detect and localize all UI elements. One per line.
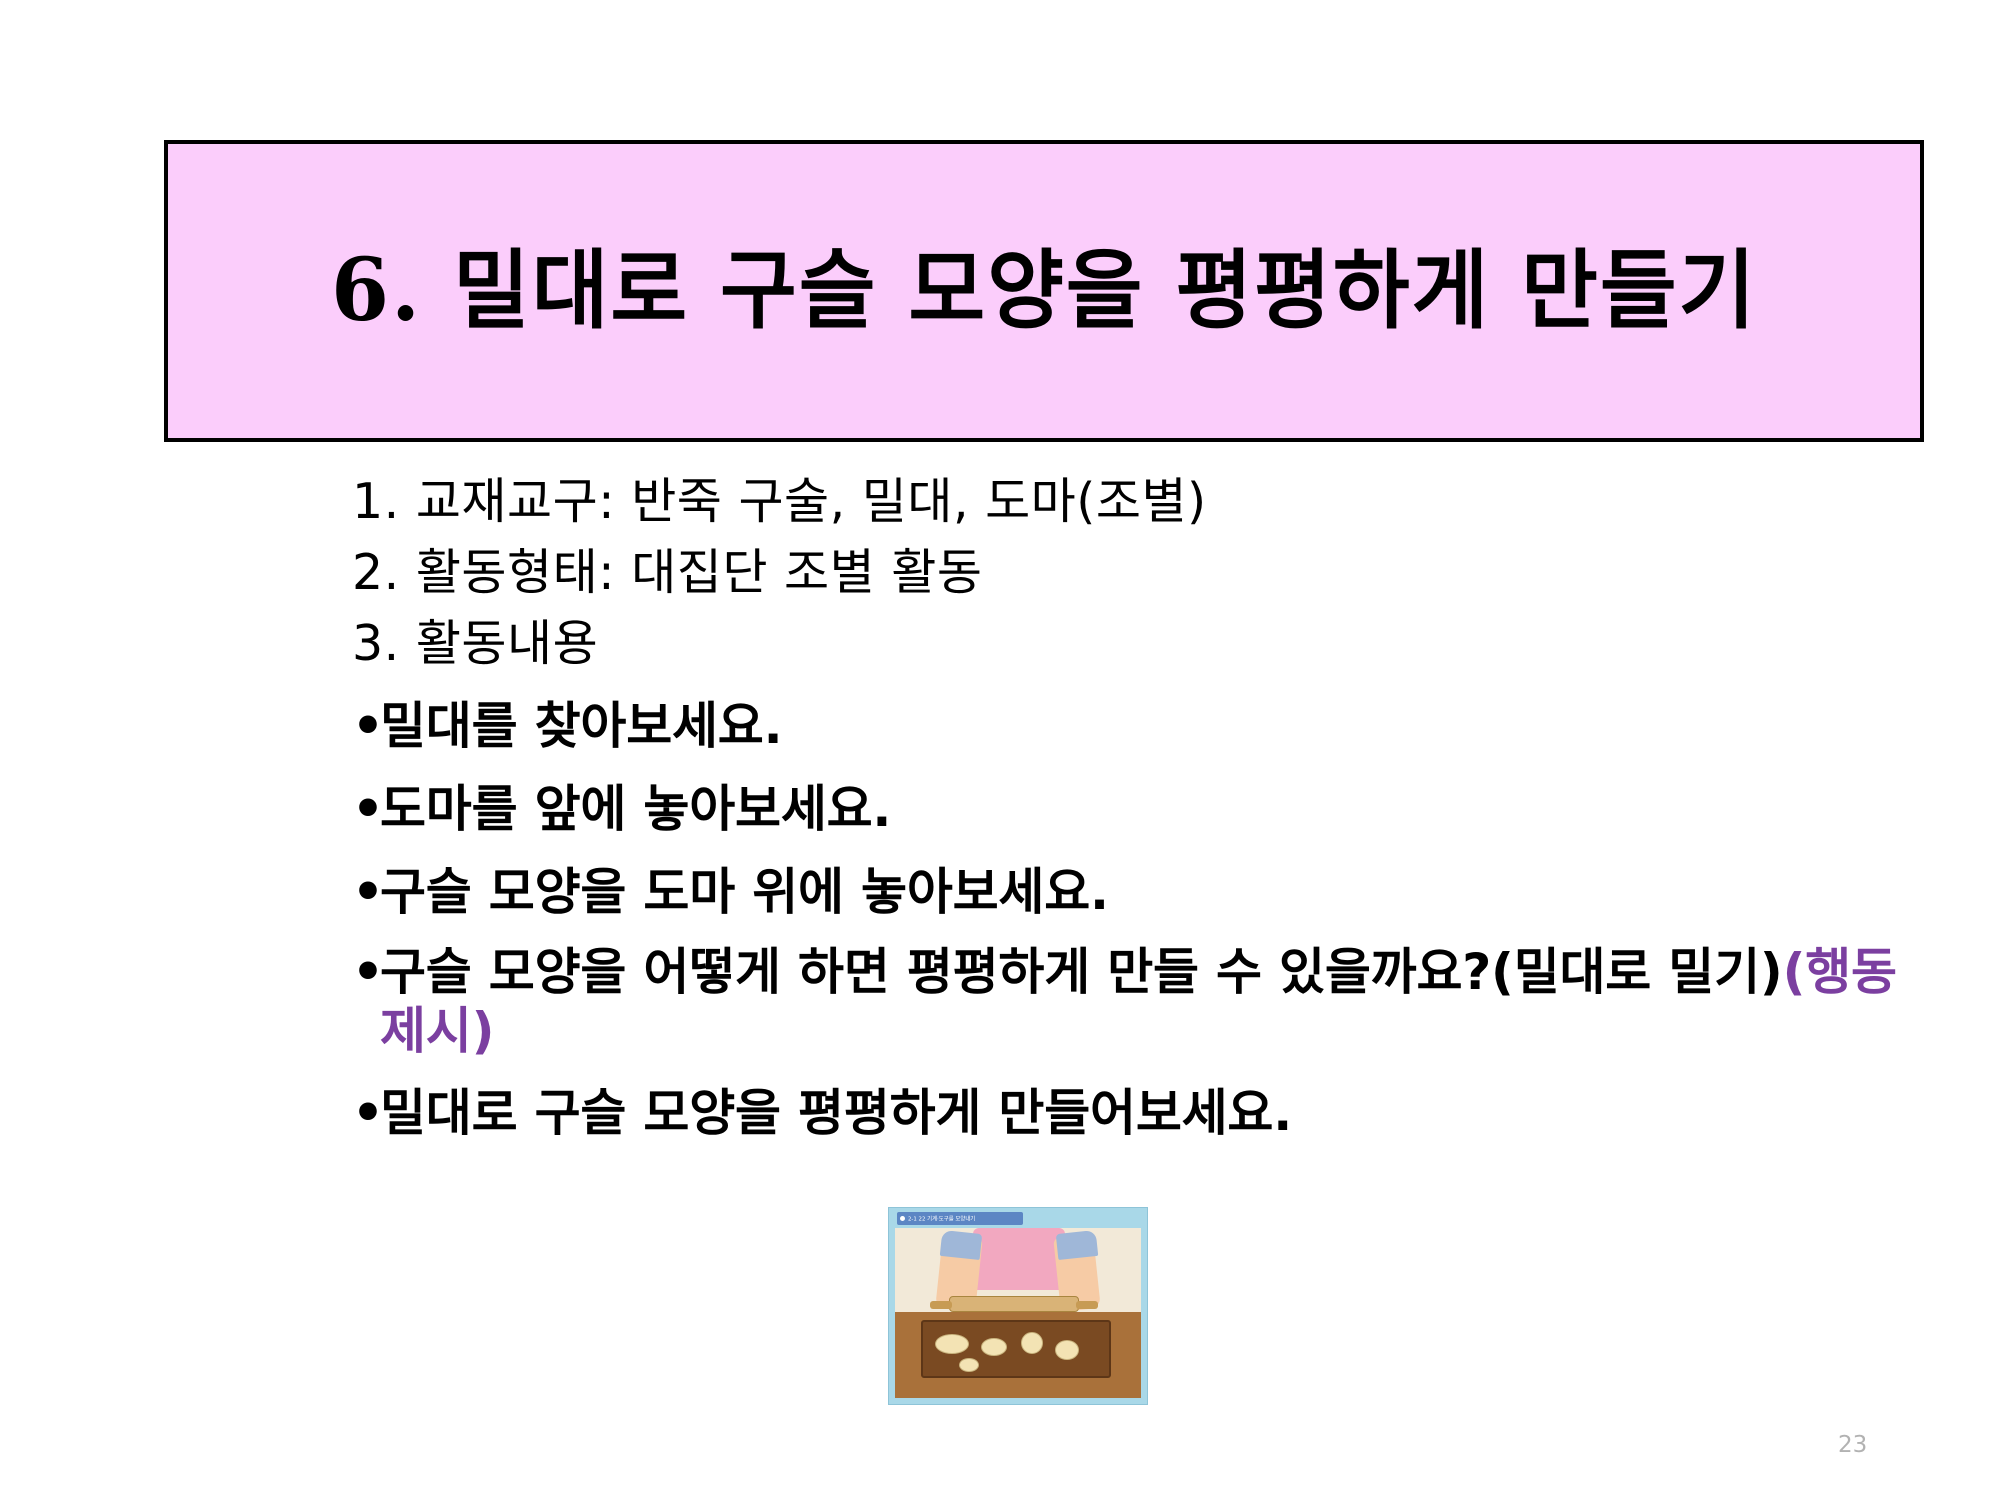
bullet-item-5: •밀대로 구슬 모양을 평평하게 만들어보세요. <box>352 1081 1912 1146</box>
rolling-pin <box>949 1296 1079 1312</box>
dough-ball <box>981 1338 1007 1356</box>
slide-title-box: 6. 밀대로 구슬 모양을 평평하게 만들기 <box>164 140 1924 442</box>
bullet-item-4: •구슬 모양을 어떻게 하면 평평하게 만들 수 있을까요?(밀대로 밀기)(행… <box>352 943 1925 1061</box>
photo-caption-text: 2-1 22 기계·도구를 모양내기 <box>908 1214 975 1222</box>
left-sleeve <box>940 1230 982 1260</box>
bullet-item-2-text: 도마를 앞에 놓아보세요. <box>380 780 891 838</box>
bullet-item-4-text: 구슬 모양을 어떻게 하면 평평하게 만들 수 있을까요?(밀대로 밀기) <box>380 943 1783 1001</box>
bullet-dot-icon: • <box>352 860 384 925</box>
bullet-dot-icon: • <box>352 777 384 842</box>
bullet-dot-icon: • <box>352 943 384 1002</box>
dough-ball <box>1021 1332 1043 1354</box>
dough-ball <box>1055 1340 1079 1360</box>
slide-body: 1. 교재교구: 반죽 구술, 밀대, 도마(조별) 2. 활동형태: 대집단 … <box>352 470 1912 1155</box>
right-sleeve <box>1056 1230 1098 1260</box>
caption-bullet-icon <box>900 1216 905 1221</box>
bullet-item-1-text: 밀대를 찾아보세요. <box>380 697 782 755</box>
bullet-dot-icon: • <box>352 1081 384 1146</box>
bullet-item-3: •구슬 모양을 도마 위에 놓아보세요. <box>352 860 1912 925</box>
bullet-item-5-text: 밀대로 구슬 모양을 평평하게 만들어보세요. <box>380 1084 1292 1142</box>
page-number: 23 <box>1838 1432 1867 1458</box>
numbered-item-3: 3. 활동내용 <box>352 612 1912 675</box>
slide-canvas: 6. 밀대로 구슬 모양을 평평하게 만들기 1. 교재교구: 반죽 구술, 밀… <box>0 0 2000 1500</box>
numbered-item-2: 2. 활동형태: 대집단 조별 활동 <box>352 541 1912 604</box>
bullet-item-3-text: 구슬 모양을 도마 위에 놓아보세요. <box>380 863 1109 921</box>
rolling-pin-dough-photo[interactable]: 2-1 22 기계·도구를 모양내기 <box>888 1207 1148 1405</box>
photo-caption-bar: 2-1 22 기계·도구를 모양내기 <box>897 1212 1023 1225</box>
person-torso <box>973 1228 1065 1290</box>
dough-ball <box>935 1334 969 1354</box>
dough-ball <box>959 1358 979 1372</box>
bullet-dot-icon: • <box>352 694 384 759</box>
page-title: 6. 밀대로 구슬 모양을 평평하게 만들기 <box>331 246 1757 336</box>
bullet-item-2: •도마를 앞에 놓아보세요. <box>352 777 1912 842</box>
numbered-item-1: 1. 교재교구: 반죽 구술, 밀대, 도마(조별) <box>352 470 1912 533</box>
bullet-item-1: •밀대를 찾아보세요. <box>352 694 1912 759</box>
